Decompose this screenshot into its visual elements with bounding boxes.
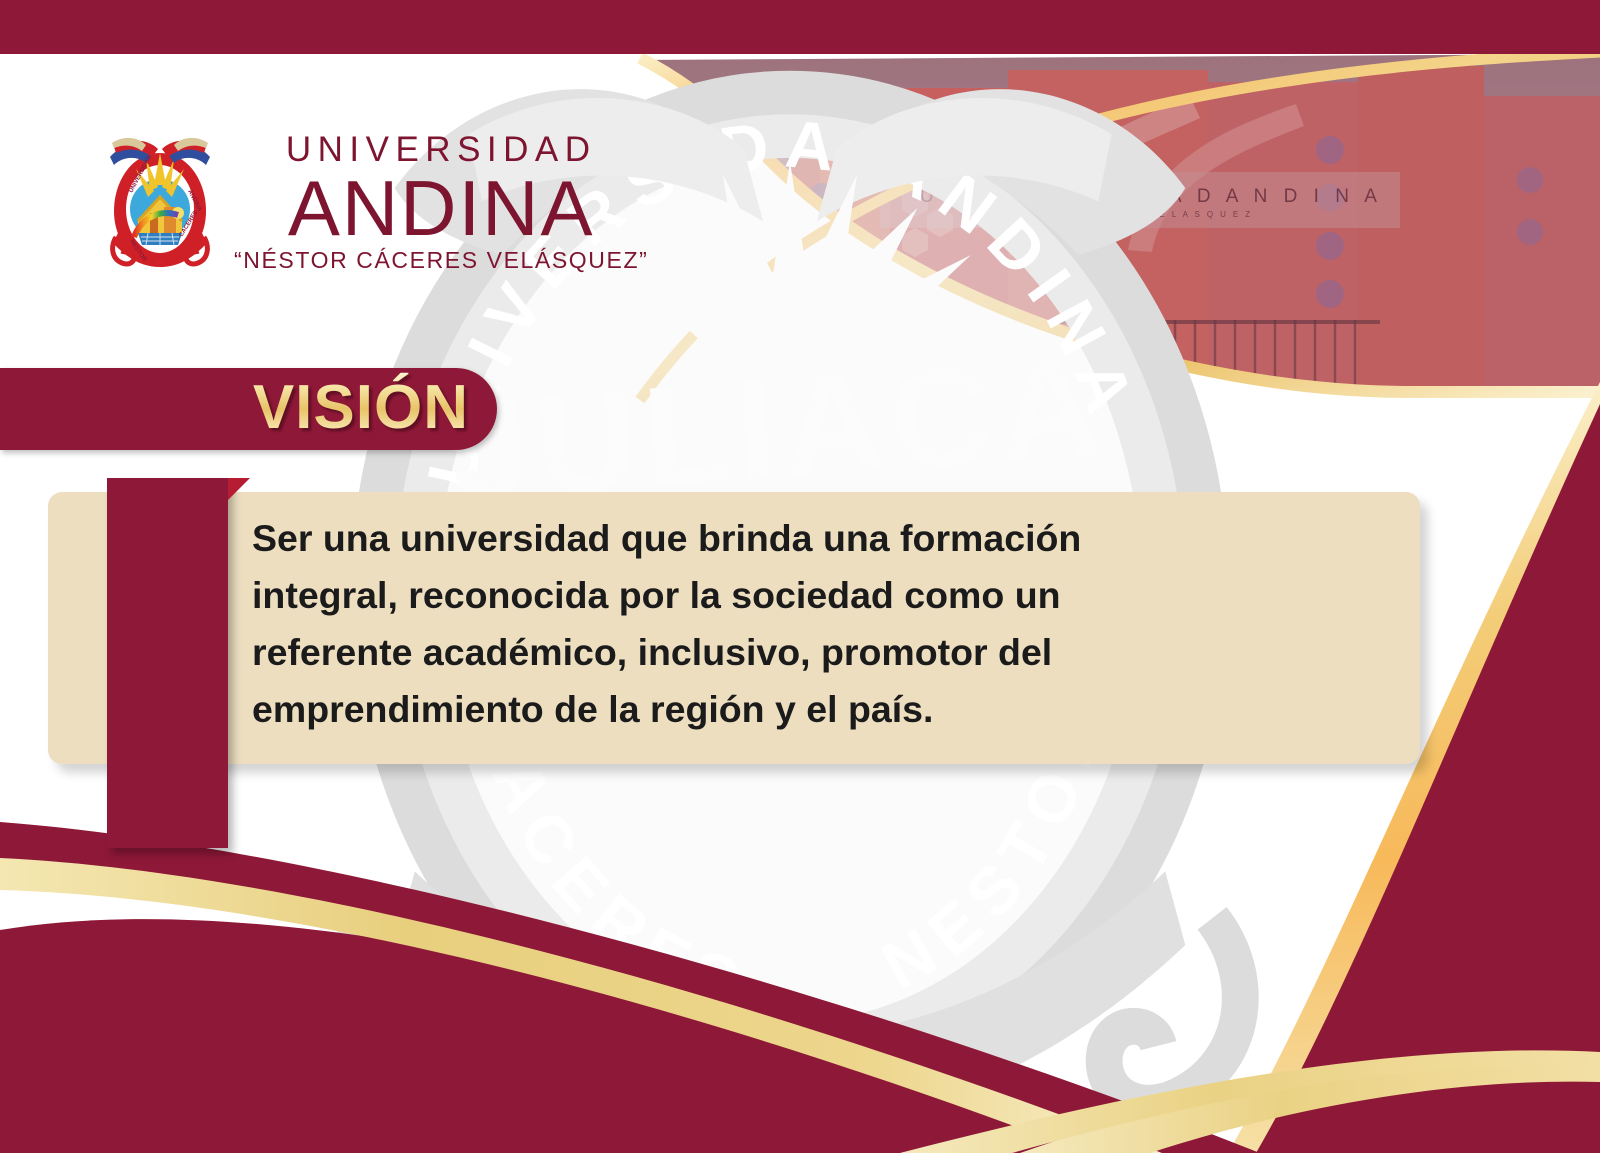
vision-text-card: Ser una universidad que brinda una forma… <box>48 492 1420 764</box>
folded-corner-icon <box>228 478 250 500</box>
wordmark-line-universidad: UNIVERSIDAD <box>286 132 597 167</box>
vision-line-1: Ser una universidad que brinda una forma… <box>252 510 1386 567</box>
university-crest-icon: UNIVERSIDAD ANDINA NESTOR CACERES <box>108 137 212 267</box>
vision-banner: VISIÓN <box>0 368 497 450</box>
vision-accent-tab <box>107 478 228 848</box>
vision-slide: U N I V E R S I D A D A N D I N A N E S … <box>0 0 1600 1153</box>
wordmark-line-andina: ANDINA <box>288 169 595 247</box>
vision-banner-title: VISIÓN <box>253 372 497 443</box>
university-wordmark: UNIVERSIDAD ANDINA “NÉSTOR CÁCERES VELÁS… <box>234 132 648 272</box>
vision-line-4: emprendimiento de la región y el país. <box>252 681 1386 738</box>
vision-line-2: integral, reconocida por la sociedad com… <box>252 567 1386 624</box>
vision-line-3: referente académico, inclusivo, promotor… <box>252 624 1386 681</box>
university-logo: UNIVERSIDAD ANDINA NESTOR CACERES UNIVER… <box>108 132 648 272</box>
top-maroon-bar <box>0 0 1600 54</box>
vision-paragraph: Ser una universidad que brinda una forma… <box>252 510 1386 738</box>
vision-accent-tab-body <box>107 478 228 848</box>
wordmark-line-nestor-caceres-velasquez: “NÉSTOR CÁCERES VELÁSQUEZ” <box>234 249 648 272</box>
